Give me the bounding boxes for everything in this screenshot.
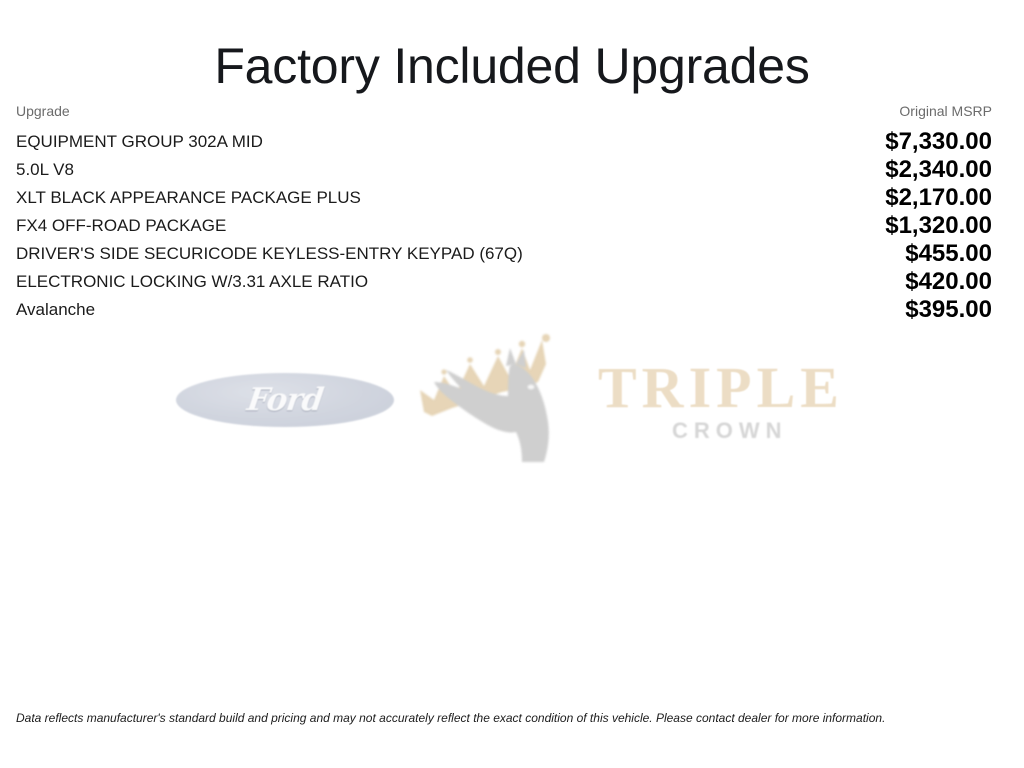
upgrade-name: DRIVER'S SIDE SECURICODE KEYLESS-ENTRY K… <box>16 240 716 268</box>
upgrade-price: $395.00 <box>716 296 992 324</box>
table-body: EQUIPMENT GROUP 302A MID $7,330.00 5.0L … <box>16 128 992 324</box>
column-header-original-msrp: Original MSRP <box>716 94 992 128</box>
table-row: DRIVER'S SIDE SECURICODE KEYLESS-ENTRY K… <box>16 240 992 268</box>
upgrade-name: Avalanche <box>16 296 716 324</box>
content-area: Factory Included Upgrades Upgrade Origin… <box>0 0 1024 324</box>
ford-wordmark-text: Ford <box>173 382 396 418</box>
upgrades-table: Upgrade Original MSRP EQUIPMENT GROUP 30… <box>16 94 992 324</box>
upgrade-name: ELECTRONIC LOCKING W/3.31 AXLE RATIO <box>16 268 716 296</box>
upgrade-name: 5.0L V8 <box>16 156 716 184</box>
table-row: 5.0L V8 $2,340.00 <box>16 156 992 184</box>
table-row: ELECTRONIC LOCKING W/3.31 AXLE RATIO $42… <box>16 268 992 296</box>
table-row: Avalanche $395.00 <box>16 296 992 324</box>
upgrade-name: FX4 OFF-ROAD PACKAGE <box>16 212 716 240</box>
upgrade-price: $7,330.00 <box>716 128 992 156</box>
upgrade-price: $1,320.00 <box>716 212 992 240</box>
page-title: Factory Included Upgrades <box>0 0 1024 94</box>
disclaimer-text: Data reflects manufacturer's standard bu… <box>16 711 992 727</box>
upgrade-name: EQUIPMENT GROUP 302A MID <box>16 128 716 156</box>
triple-wordmark-text: TRIPLE <box>598 354 844 421</box>
upgrade-price: $455.00 <box>716 240 992 268</box>
upgrade-price: $2,340.00 <box>716 156 992 184</box>
ford-oval-icon <box>176 373 394 427</box>
upgrade-price: $2,170.00 <box>716 184 992 212</box>
table-row: FX4 OFF-ROAD PACKAGE $1,320.00 <box>16 212 992 240</box>
dealer-watermark: Ford TRIPLE CROWN <box>0 330 1024 465</box>
horse-head-icon <box>418 330 593 465</box>
table-header: Upgrade Original MSRP <box>16 94 992 128</box>
table-row: EQUIPMENT GROUP 302A MID $7,330.00 <box>16 128 992 156</box>
upgrades-page: Ford TRIPLE CROWN <box>0 0 1024 768</box>
table-row: XLT BLACK APPEARANCE PACKAGE PLUS $2,170… <box>16 184 992 212</box>
table-header-row: Upgrade Original MSRP <box>16 94 992 128</box>
upgrade-price: $420.00 <box>716 268 992 296</box>
ford-logo-watermark: Ford <box>176 373 394 427</box>
column-header-upgrade: Upgrade <box>16 94 716 128</box>
crown-wordmark-text: CROWN <box>672 418 788 444</box>
upgrade-name: XLT BLACK APPEARANCE PACKAGE PLUS <box>16 184 716 212</box>
